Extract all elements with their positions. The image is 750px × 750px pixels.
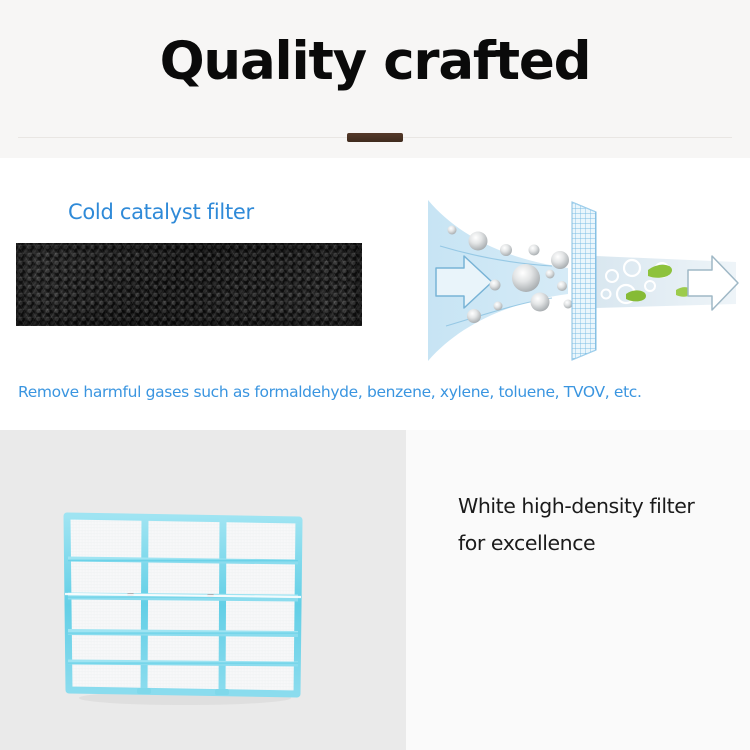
header-accent-bar [347, 133, 403, 142]
white-filter-title: White high-density filter for excellence [458, 488, 738, 562]
white-filter-image-panel [0, 430, 406, 750]
header-banner: Quality crafted [0, 0, 750, 158]
cold-catalyst-caption: Remove harmful gases such as formaldehyd… [18, 383, 734, 401]
cold-catalyst-heading: Cold catalyst filter [68, 200, 254, 224]
white-filter-section: White high-density filter for excellence… [0, 430, 750, 750]
airflow-diagram [400, 198, 740, 363]
cold-catalyst-section: Cold catalyst filter [0, 158, 750, 430]
carbon-honeycomb-filter-image [16, 243, 362, 326]
white-filter-title-line2: for excellence [458, 525, 738, 562]
page-title: Quality crafted [0, 34, 750, 90]
white-filter-title-line1: White high-density filter [458, 488, 738, 525]
white-high-density-filter-image [55, 510, 310, 705]
